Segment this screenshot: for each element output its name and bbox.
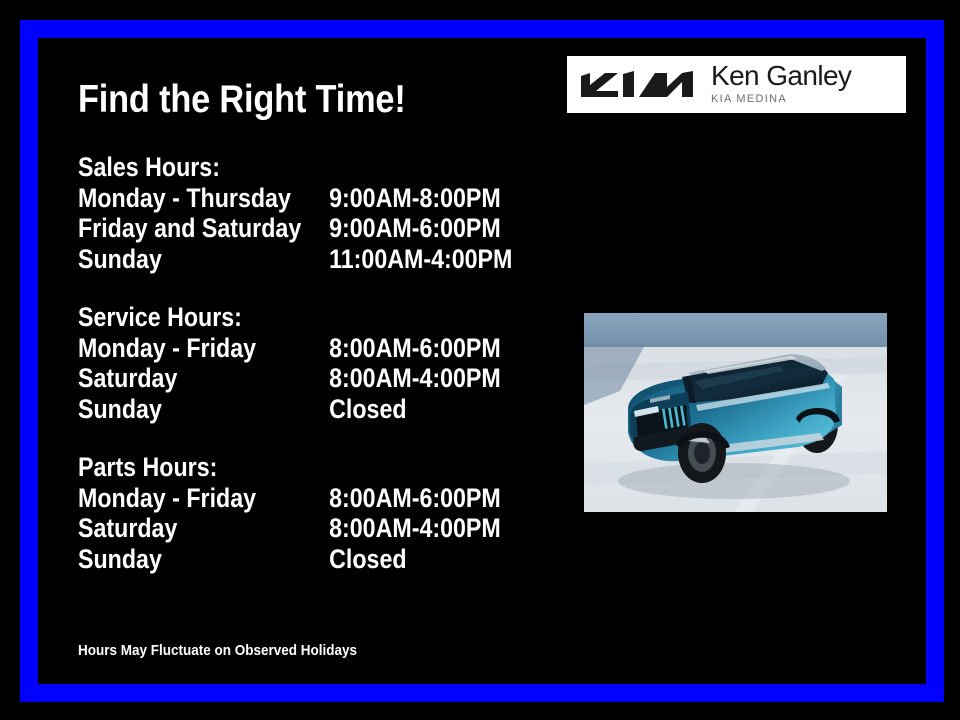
hours-row: Saturday 8:00AM-4:00PM [78,363,491,394]
hours-days: Sunday [78,244,329,275]
holiday-disclaimer: Hours May Fluctuate on Observed Holidays [78,642,357,659]
hours-days: Friday and Saturday [78,213,329,244]
hours-row: Sunday Closed [78,394,491,425]
slide-canvas: Find the Right Time! Ken Ganley KI [38,38,926,684]
hours-block-parts: Parts Hours: Monday - Friday 8:00AM-6:00… [78,452,558,574]
kia-logo-icon [579,70,695,100]
hours-area: Sales Hours: Monday - Thursday 9:00AM-8:… [78,152,558,574]
dealer-name: Ken Ganley [711,62,851,90]
hours-row: Sunday 11:00AM-4:00PM [78,244,491,275]
hours-row: Sunday Closed [78,544,491,575]
hours-time: Closed [329,544,491,575]
hours-row: Monday - Friday 8:00AM-6:00PM [78,333,491,364]
hours-days: Monday - Thursday [78,183,329,214]
hours-time: 8:00AM-6:00PM [329,483,501,514]
hours-days: Saturday [78,363,329,394]
hours-row: Friday and Saturday 9:00AM-6:00PM [78,213,491,244]
hours-block-sales: Sales Hours: Monday - Thursday 9:00AM-8:… [78,152,558,274]
page-title: Find the Right Time! [78,78,406,122]
hours-days: Sunday [78,394,329,425]
hours-heading: Sales Hours: [78,152,491,183]
hours-row: Saturday 8:00AM-4:00PM [78,513,491,544]
hours-time: 9:00AM-6:00PM [329,213,501,244]
hours-days: Saturday [78,513,329,544]
hours-time: 8:00AM-4:00PM [329,363,501,394]
slide-root: Find the Right Time! Ken Ganley KI [0,0,960,720]
hours-time: 8:00AM-4:00PM [329,513,501,544]
hours-heading: Parts Hours: [78,452,491,483]
dealer-location: KIA MEDINA [711,92,851,106]
hours-time: 11:00AM-4:00PM [329,244,512,275]
hours-days: Monday - Friday [78,483,329,514]
dealer-logo-text: Ken Ganley KIA MEDINA [711,62,851,106]
hours-time: Closed [329,394,491,425]
hours-time: 9:00AM-8:00PM [329,183,501,214]
kia-ev9-suv-photo [584,313,887,512]
hours-row: Monday - Thursday 9:00AM-8:00PM [78,183,491,214]
hours-row: Monday - Friday 8:00AM-6:00PM [78,483,491,514]
hours-days: Monday - Friday [78,333,329,364]
hours-time: 8:00AM-6:00PM [329,333,501,364]
hours-heading: Service Hours: [78,302,491,333]
hours-block-service: Service Hours: Monday - Friday 8:00AM-6:… [78,302,558,424]
dealer-logo-panel: Ken Ganley KIA MEDINA [567,56,906,113]
hours-days: Sunday [78,544,329,575]
